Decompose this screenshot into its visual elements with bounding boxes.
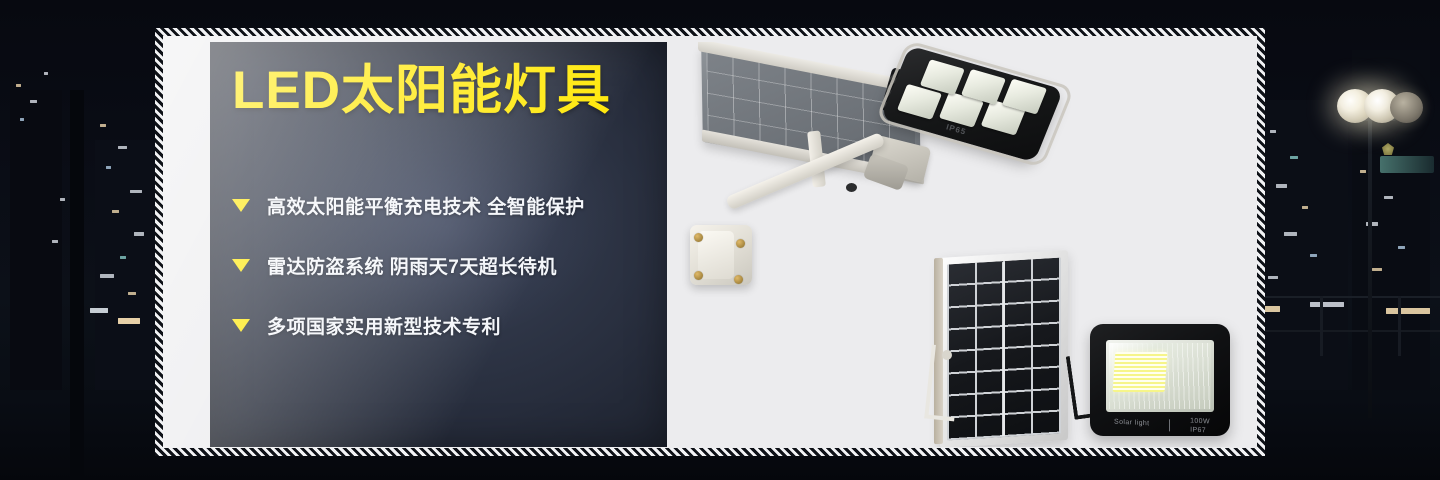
bracket-bolt-icon (734, 275, 743, 284)
label-divider (1169, 419, 1170, 431)
list-item: 雷达防盗系统 阴雨天7天超长待机 (232, 252, 662, 279)
bracket-bolt-icon (694, 271, 703, 280)
bracket-face-plate (698, 231, 734, 279)
panel-busbar (1002, 262, 1005, 436)
flood-light-brand-label: Solar light (1114, 419, 1150, 428)
feature-text: 多项国家实用新型技术专利 (267, 312, 501, 339)
page-title: LED太阳能灯具 (232, 64, 611, 117)
feature-list: 高效太阳能平衡充电技术 全智能保护 雷达防盗系统 阴雨天7天超长待机 多项国家实… (232, 192, 662, 339)
list-item: 多项国家实用新型技术专利 (232, 312, 662, 339)
radar-sensor-icon (846, 183, 857, 192)
solar-flood-light-image: Solar light 100W IP67 (1068, 324, 1243, 444)
bracket-bolt-icon (694, 233, 703, 242)
triangle-down-icon (232, 319, 250, 332)
panel-hinge-icon (942, 350, 952, 360)
bracket-bolt-icon (736, 239, 745, 248)
feature-text: 高效太阳能平衡充电技术 全智能保护 (267, 192, 585, 219)
solar-panel-image (928, 254, 1078, 447)
feature-text: 雷达防盗系统 阴雨天7天超长待机 (267, 252, 557, 279)
product-showcase: IP65 (670, 42, 1257, 447)
list-item: 高效太阳能平衡充电技术 全智能保护 (232, 192, 662, 219)
triangle-down-icon (232, 259, 250, 272)
triangle-down-icon (232, 199, 250, 212)
flood-light-ip-rating: IP67 (1190, 426, 1210, 436)
headline-panel: LED太阳能灯具 高效太阳能平衡充电技术 全智能保护 雷达防盗系统 阴雨天7天超… (210, 42, 667, 447)
led-solar-lighting-banner: LED太阳能灯具 高效太阳能平衡充电技术 全智能保护 雷达防盗系统 阴雨天7天超… (0, 0, 1440, 480)
flood-light-cob-chip (1113, 352, 1168, 392)
